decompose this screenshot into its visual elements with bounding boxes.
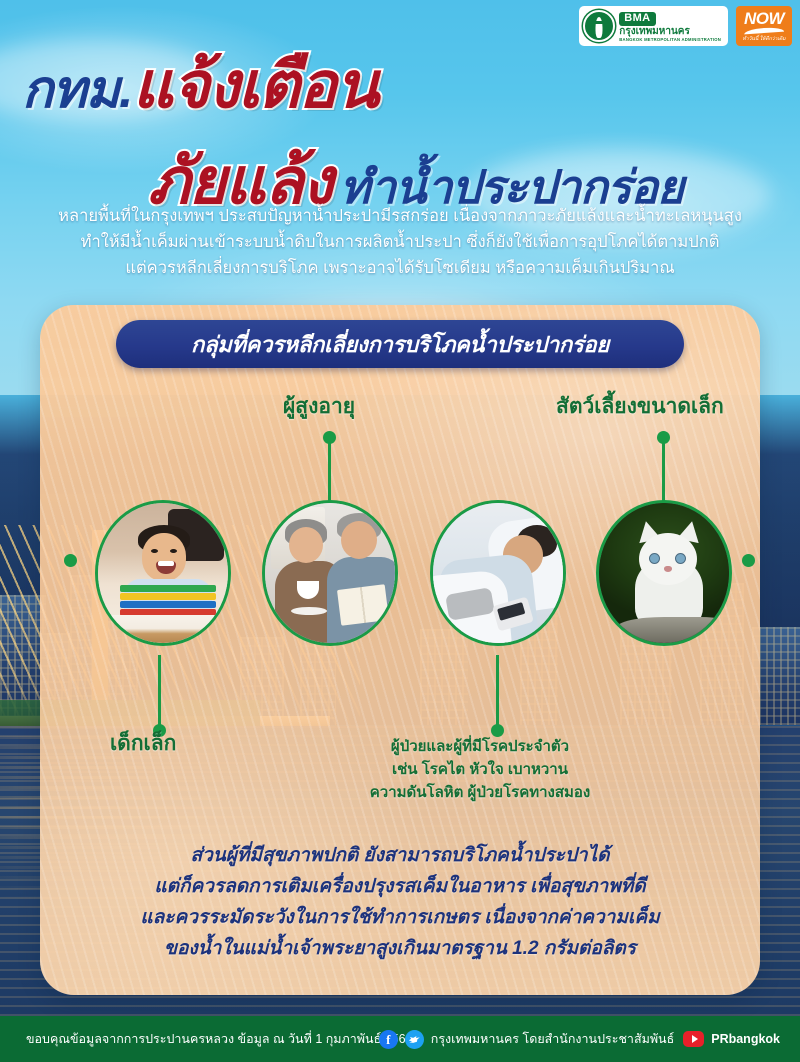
intro-line: ทำให้มีน้ำเค็มผ่านเข้าระบบน้ำดิบในการผลิ…	[0, 229, 800, 255]
group-label-patients: ผู้ป่วยและผู้ที่มีโรคประจำตัว เช่น โรคไต…	[300, 735, 660, 804]
patients-caption-line: ผู้ป่วยและผู้ที่มีโรคประจำตัว	[300, 735, 660, 758]
headline-line-1: กทม. แจ้งเตือน	[0, 34, 800, 136]
footer-bar: ขอบคุณข้อมูลจากการประปานครหลวง ข้อมูล ณ …	[0, 1016, 800, 1062]
connector-dot-pets	[657, 431, 670, 444]
photo-detail	[617, 617, 732, 643]
patient-blood-pressure-photo	[433, 503, 563, 643]
facebook-icon[interactable]: f	[379, 1030, 398, 1049]
connector-line-elderly	[328, 438, 331, 508]
group-label-young-children: เด็กเล็ก	[110, 727, 176, 760]
footer-social-row: f กรุงเทพมหานคร โดยสำนักงานประชาสัมพันธ์…	[379, 1029, 780, 1049]
photo-circle-small-pets	[596, 500, 732, 646]
photo-detail	[664, 566, 672, 572]
closing-line: และควรระมัดระวังในการใช้ทำการเกษตร เนื่อ…	[40, 902, 760, 933]
bma-abbr: BMA	[619, 12, 655, 26]
photo-detail	[98, 615, 231, 646]
photo-detail	[291, 607, 327, 615]
closing-advice-block: ส่วนผู้ที่มีสุขภาพปกติ ยังสามารถบริโภคน้…	[40, 840, 760, 964]
intro-paragraph: หลายพื้นที่ในกรุงเทพฯ ประสบปัญหาน้ำประปา…	[0, 203, 800, 281]
photo-detail	[341, 521, 377, 559]
photo-detail	[639, 533, 697, 585]
intro-line: หลายพื้นที่ในกรุงเทพฯ ประสบปัญหาน้ำประปา…	[0, 203, 800, 229]
connector-dot-elderly	[323, 431, 336, 444]
avoid-groups-banner: กลุ่มที่ควรหลีกเลี่ยงการบริโภคน้ำประปากร…	[116, 320, 684, 368]
photo-detail	[120, 585, 216, 615]
connector-line-pets	[662, 438, 665, 508]
intro-line: แต่ควรหลีกเลี่ยงการบริโภค เพราะอาจได้รับ…	[0, 255, 800, 281]
infographic-poster: BMA กรุงเทพมหานคร BANGKOK METROPOLITAN A…	[0, 0, 800, 1062]
patients-caption-line: ความดันโลหิต ผู้ป่วยโรคทางสมอง	[300, 781, 660, 804]
headline-prefix-bma: กทม.	[22, 47, 133, 130]
child-with-books-photo	[98, 503, 228, 643]
photo-circle-elderly	[262, 500, 398, 646]
photo-detail	[151, 549, 158, 553]
banner-title: กลุ่มที่ควรหลีกเลี่ยงการบริโภคน้ำประปากร…	[191, 327, 609, 362]
closing-line: แต่ก็ควรลดการเติมเครื่องปรุงรสเค็มในอาหา…	[40, 871, 760, 902]
now-logo-word: NOW	[744, 10, 784, 27]
white-kitten-photo	[599, 503, 729, 643]
photo-circle-young-children	[95, 500, 231, 646]
closing-line: ของน้ำในแม่น้ำเจ้าพระยาสูงเกินมาตรฐาน 1.…	[40, 933, 760, 964]
photo-detail	[289, 527, 323, 563]
youtube-icon[interactable]	[683, 1031, 704, 1047]
photo-detail	[649, 553, 660, 564]
footer-credit-text: ขอบคุณข้อมูลจากการประปานครหลวง ข้อมูล ณ …	[26, 1029, 413, 1049]
photo-circle-patients	[430, 500, 566, 646]
headline-warning-word: แจ้งเตือน	[133, 34, 378, 136]
elderly-couple-photo	[265, 503, 395, 643]
connector-dot-pets-right	[742, 554, 755, 567]
patients-caption-line: เช่น โรคไต หัวใจ เบาหวาน	[300, 758, 660, 781]
group-label-elderly: ผู้สูงอายุ	[283, 390, 355, 423]
connector-dot-children	[64, 554, 77, 567]
photo-detail	[170, 549, 177, 553]
footer-youtube-handle: PRbangkok	[711, 1032, 780, 1046]
connector-line-patients	[496, 655, 499, 730]
photo-detail	[675, 553, 686, 564]
footer-social-name: กรุงเทพมหานคร โดยสำนักงานประชาสัมพันธ์	[431, 1029, 674, 1049]
twitter-icon[interactable]	[405, 1030, 424, 1049]
closing-line: ส่วนผู้ที่มีสุขภาพปกติ ยังสามารถบริโภคน้…	[40, 840, 760, 871]
group-label-small-pets: สัตว์เลี้ยงขนาดเล็ก	[556, 390, 724, 423]
connector-line-children	[158, 655, 161, 730]
photo-detail	[337, 584, 389, 626]
